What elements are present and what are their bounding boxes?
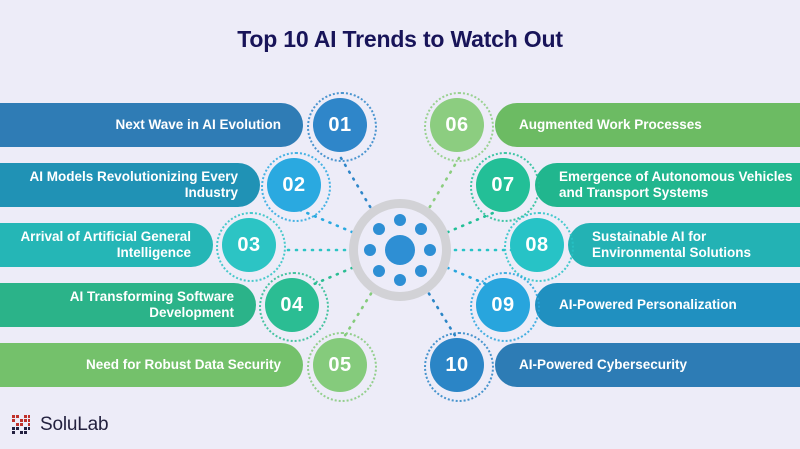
trend-badge-05[interactable]: 05 [313,338,367,392]
trend-row-07[interactable]: Emergence of Autonomous Vehicles and Tra… [470,163,800,207]
trend-row-01[interactable]: Next Wave in AI Evolution 01 [0,103,370,147]
trend-badge-10[interactable]: 10 [430,338,484,392]
brand-logo[interactable]: SoluLab [12,414,108,436]
trend-row-06[interactable]: Augmented Work Processes 06 [430,103,800,147]
trend-row-09[interactable]: AI-Powered Personalization 09 [470,283,800,327]
trend-pill-07[interactable]: Emergence of Autonomous Vehicles and Tra… [535,163,800,207]
trend-label-05: Need for Robust Data Security [86,357,281,373]
trend-row-05[interactable]: Need for Robust Data Security 05 [0,343,375,387]
trend-pill-05[interactable]: Need for Robust Data Security [0,343,303,387]
trend-pill-08[interactable]: Sustainable AI for Environmental Solutio… [568,223,800,267]
brand-name: SoluLab [40,414,108,436]
trend-pill-09[interactable]: AI-Powered Personalization [535,283,800,327]
ai-network-icon [362,212,438,288]
trend-badge-04[interactable]: 04 [265,278,319,332]
trend-label-06: Augmented Work Processes [519,117,702,133]
trend-pill-10[interactable]: AI-Powered Cybersecurity [495,343,800,387]
trend-number-03: 03 [237,234,260,257]
trend-number-06: 06 [445,114,468,137]
trend-number-01: 01 [328,114,351,137]
trend-pill-01[interactable]: Next Wave in AI Evolution [0,103,303,147]
trend-number-05: 05 [328,354,351,377]
trend-badge-03[interactable]: 03 [222,218,276,272]
trend-label-03: Arrival of Artificial General Intelligen… [0,229,191,261]
trend-label-10: AI-Powered Cybersecurity [519,357,687,373]
trend-number-07: 07 [491,174,514,197]
trend-row-02[interactable]: AI Models Revolutionizing Every Industry… [0,163,330,207]
trend-pill-04[interactable]: AI Transforming Software Development [0,283,256,327]
trend-number-02: 02 [282,174,305,197]
trend-row-04[interactable]: AI Transforming Software Development 04 [0,283,330,327]
trend-label-07: Emergence of Autonomous Vehicles and Tra… [559,169,800,201]
trend-badge-07[interactable]: 07 [476,158,530,212]
trend-pill-03[interactable]: Arrival of Artificial General Intelligen… [0,223,213,267]
trend-row-08[interactable]: Sustainable AI for Environmental Solutio… [500,223,800,267]
trend-pill-06[interactable]: Augmented Work Processes [495,103,800,147]
infographic-canvas: Top 10 AI Trends to Watch Out Next [0,0,800,449]
trend-row-03[interactable]: Arrival of Artificial General Intelligen… [0,223,300,267]
trend-number-04: 04 [280,294,303,317]
trend-badge-06[interactable]: 06 [430,98,484,152]
trend-badge-01[interactable]: 01 [313,98,367,152]
trend-row-10[interactable]: AI-Powered Cybersecurity 10 [430,343,800,387]
trend-label-09: AI-Powered Personalization [559,297,737,313]
trend-badge-02[interactable]: 02 [267,158,321,212]
trend-badge-09[interactable]: 09 [476,278,530,332]
trend-label-01: Next Wave in AI Evolution [115,117,281,133]
trend-number-08: 08 [525,234,548,257]
trend-number-09: 09 [491,294,514,317]
trend-label-08: Sustainable AI for Environmental Solutio… [592,229,800,261]
trend-label-02: AI Models Revolutionizing Every Industry [0,169,238,201]
trend-label-04: AI Transforming Software Development [0,289,234,321]
trend-number-10: 10 [445,354,468,377]
qr-logo-mark-icon [12,415,33,436]
trend-badge-08[interactable]: 08 [510,218,564,272]
trend-pill-02[interactable]: AI Models Revolutionizing Every Industry [0,163,260,207]
